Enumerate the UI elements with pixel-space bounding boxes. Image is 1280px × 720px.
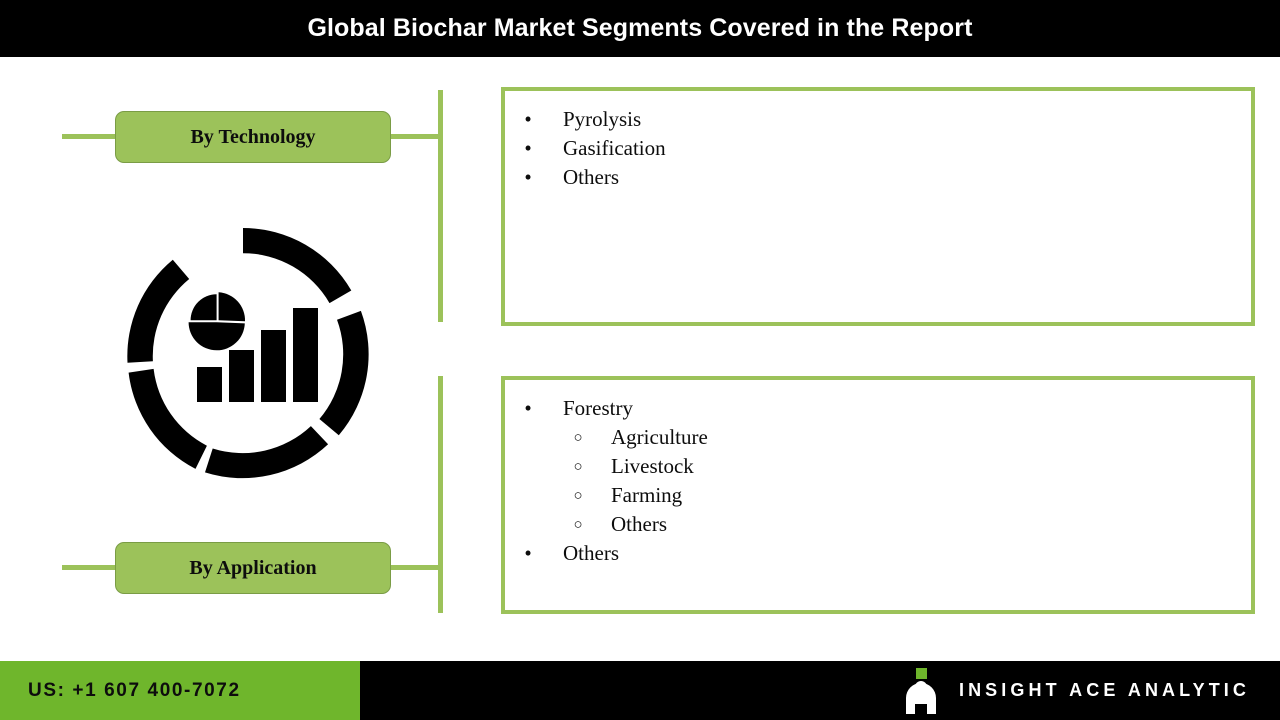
connector-link-application <box>389 565 443 570</box>
sub-bullet-icon: ○ <box>571 481 585 511</box>
footer-phone-number[interactable]: US: +1 607 400-7072 <box>0 680 241 702</box>
connector-stub-technology <box>62 134 117 139</box>
list-item: • Others <box>505 539 1251 568</box>
sublist-item: ○ Agriculture <box>563 423 1251 452</box>
page-title: Global Biochar Market Segments Covered i… <box>307 14 972 43</box>
bullet-icon: • <box>522 105 534 134</box>
list-item: • Gasification <box>505 134 1251 163</box>
header-bar: Global Biochar Market Segments Covered i… <box>0 0 1280 57</box>
bullet-icon: • <box>522 394 534 423</box>
segment-label-text: By Application <box>189 557 316 580</box>
list-item-label: Gasification <box>563 136 666 160</box>
sub-bullet-icon: ○ <box>571 452 585 482</box>
insight-ace-logo-icon <box>900 668 942 714</box>
sublist-item: ○ Livestock <box>563 452 1251 481</box>
bullet-icon: • <box>522 134 534 163</box>
sublist-item: ○ Farming <box>563 481 1251 510</box>
connector-spine-application <box>438 376 443 613</box>
segment-label-by-technology[interactable]: By Technology <box>115 111 391 163</box>
sub-bullet-icon: ○ <box>571 423 585 453</box>
list-item: • Forestry ○ Agriculture ○ Livestock ○ F… <box>505 394 1251 539</box>
content-box-application: • Forestry ○ Agriculture ○ Livestock ○ F… <box>501 376 1255 614</box>
list-item-label: Pyrolysis <box>563 107 641 131</box>
bullet-icon: • <box>522 163 534 192</box>
content-box-technology: • Pyrolysis • Gasification • Others <box>501 87 1255 326</box>
sub-bullet-icon: ○ <box>571 510 585 540</box>
slide-root: Global Biochar Market Segments Covered i… <box>0 0 1280 720</box>
brand-name-text: INSIGHT ACE ANALYTIC <box>959 680 1250 701</box>
connector-link-technology <box>389 134 443 139</box>
list-application: • Forestry ○ Agriculture ○ Livestock ○ F… <box>505 394 1251 568</box>
connector-stub-application <box>62 565 117 570</box>
list-item-label: Others <box>563 541 619 565</box>
sublist-item: ○ Others <box>563 510 1251 539</box>
sublist-item-label: Agriculture <box>611 425 708 449</box>
sublist-item-label: Livestock <box>611 454 694 478</box>
footer-contact-panel: US: +1 607 400-7072 <box>0 661 360 720</box>
list-item-label: Others <box>563 165 619 189</box>
list-item-label: Forestry <box>563 396 633 420</box>
list-item: • Pyrolysis <box>505 105 1251 134</box>
analytics-ring-icon <box>112 222 374 484</box>
sublist-item-label: Farming <box>611 483 682 507</box>
segment-label-by-application[interactable]: By Application <box>115 542 391 594</box>
list-item: • Others <box>505 163 1251 192</box>
list-technology: • Pyrolysis • Gasification • Others <box>505 105 1251 192</box>
connector-spine-technology <box>438 90 443 322</box>
sublist-item-label: Others <box>611 512 667 536</box>
bullet-icon: • <box>522 539 534 568</box>
brand-lockup: INSIGHT ACE ANALYTIC <box>900 661 1250 720</box>
sublist-forestry: ○ Agriculture ○ Livestock ○ Farming ○ Ot… <box>563 423 1251 539</box>
segment-label-text: By Technology <box>190 126 315 149</box>
